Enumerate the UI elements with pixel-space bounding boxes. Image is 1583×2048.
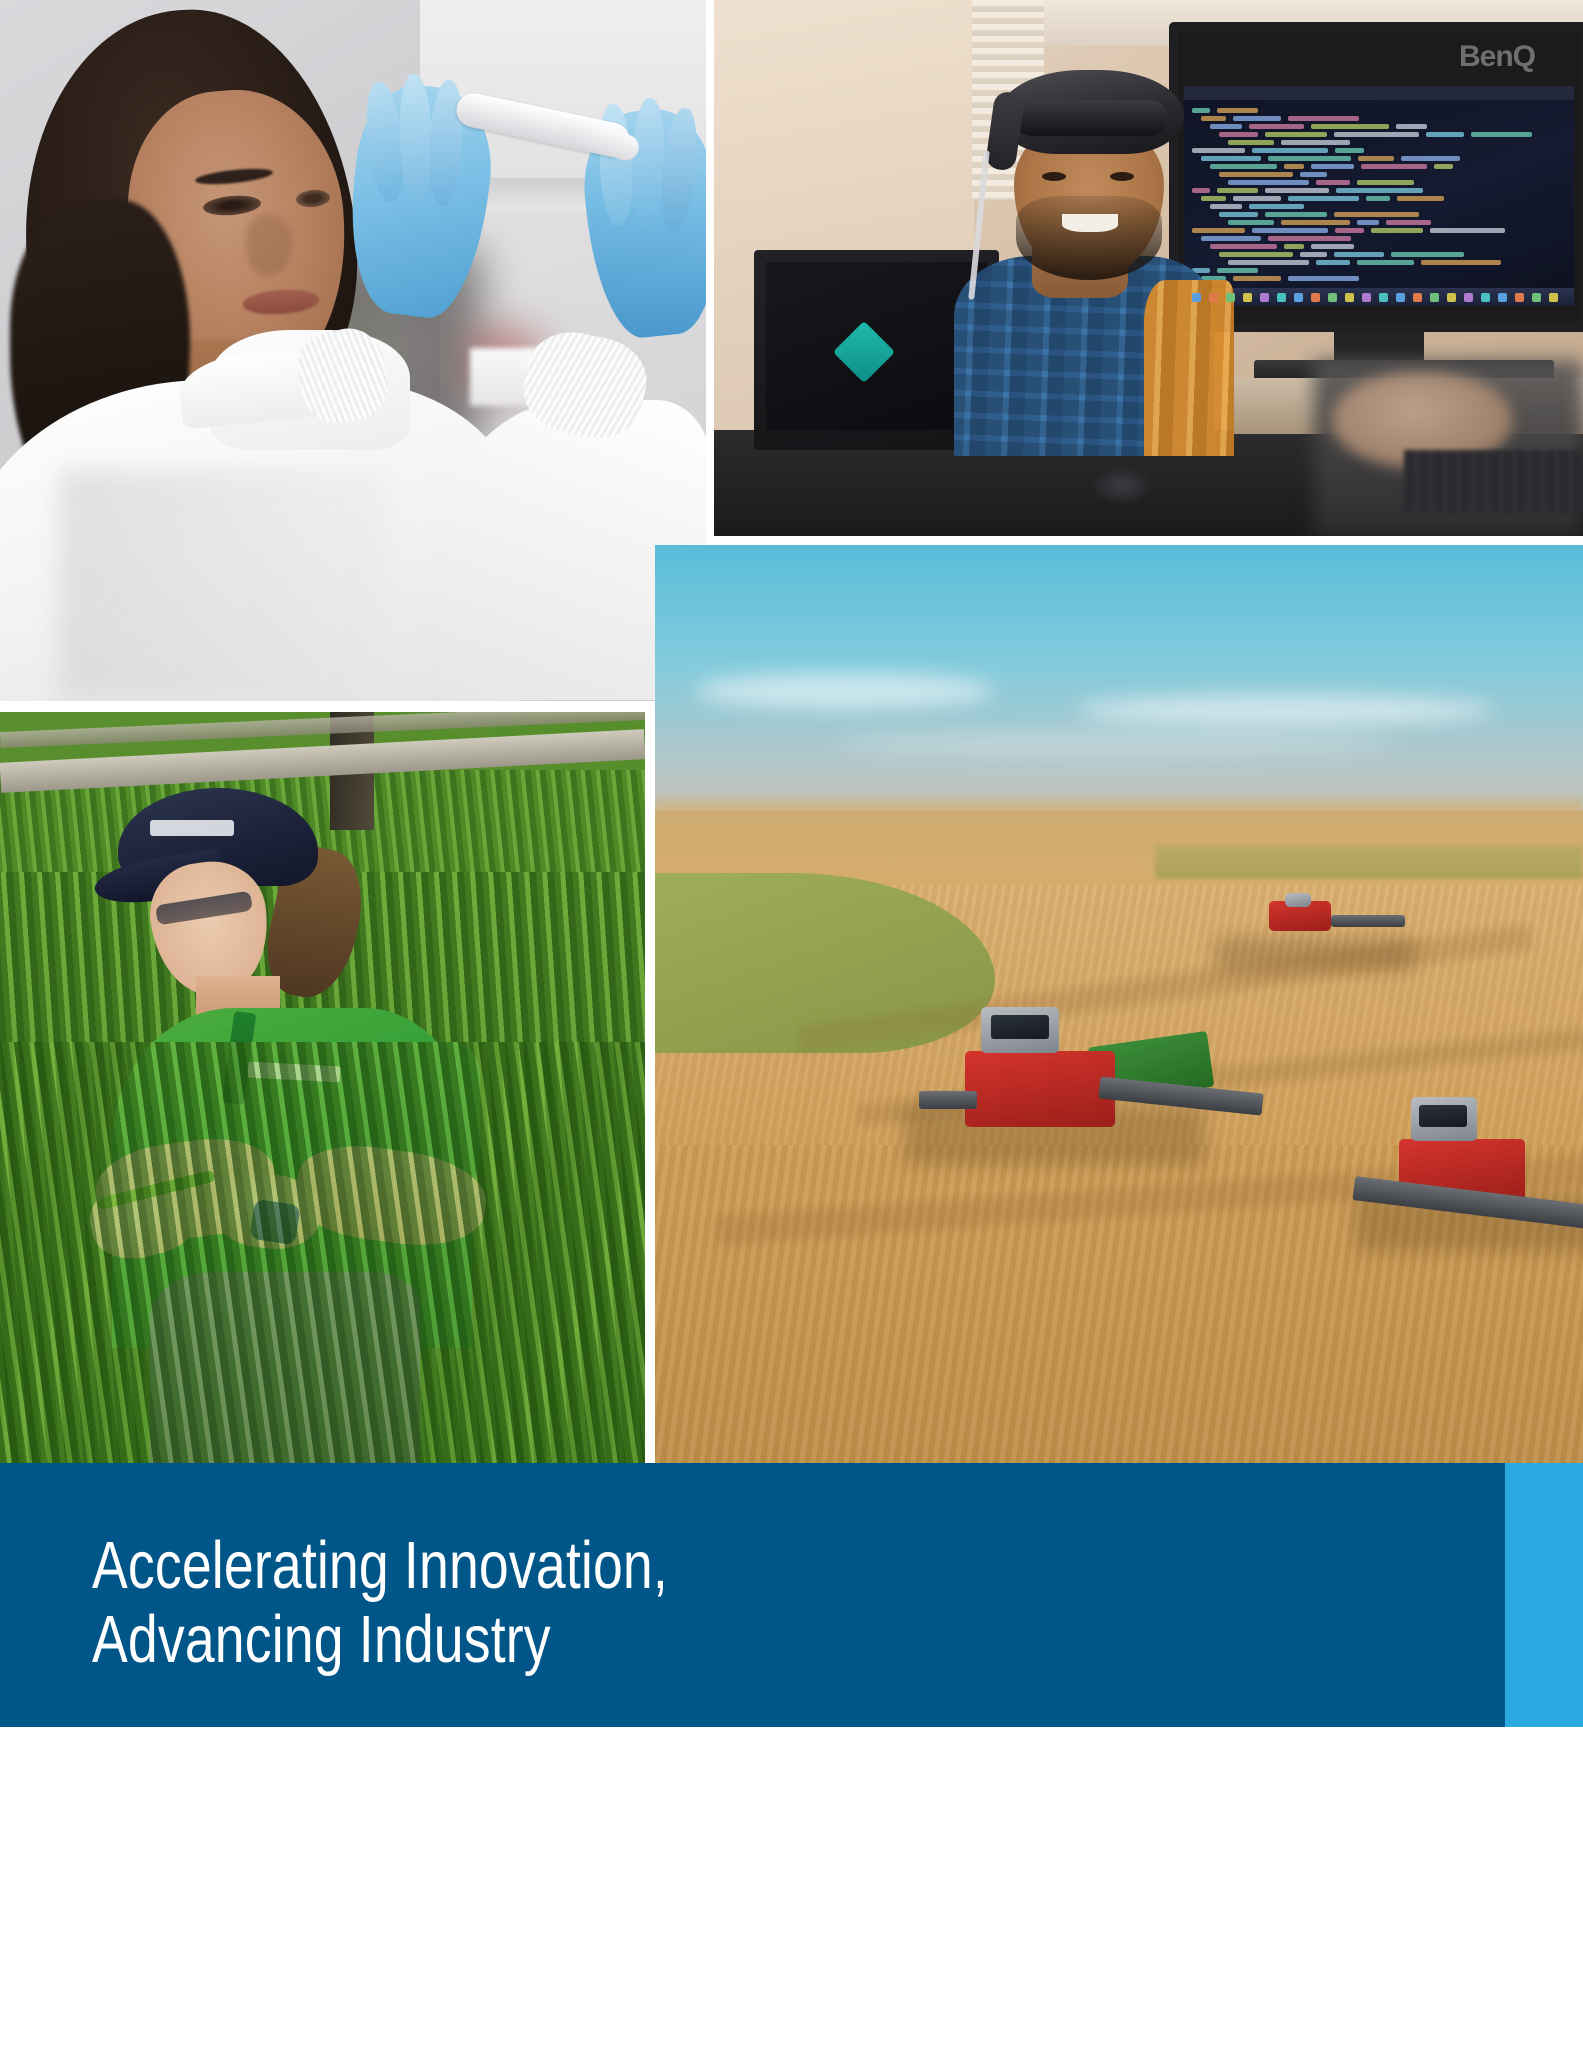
- code-line: [1334, 132, 1419, 137]
- code-line: [1265, 212, 1327, 217]
- combine-harvester-far: [1245, 893, 1405, 943]
- cloud-3: [835, 731, 1395, 757]
- combine-main-auger: [919, 1091, 977, 1109]
- photo-montage: BenQ: [0, 0, 1583, 1463]
- dock-icon: [1345, 293, 1354, 302]
- code-line: [1284, 164, 1304, 169]
- dock-icon: [1379, 293, 1388, 302]
- dock-icon: [1515, 293, 1524, 302]
- keyboard: [1404, 450, 1583, 514]
- grass-foreground: [0, 1042, 645, 1463]
- code-line: [1252, 228, 1328, 233]
- code-line: [1217, 268, 1258, 273]
- banner-accent-stripe: [1505, 1463, 1583, 1727]
- code-line: [1201, 236, 1261, 241]
- dock-icon: [1311, 293, 1320, 302]
- code-line: [1434, 164, 1453, 169]
- dock-icon: [1532, 293, 1541, 302]
- combine-main-body: [965, 1051, 1115, 1127]
- code-line: [1366, 196, 1390, 201]
- developer-shirt-sleeve: [1144, 280, 1234, 456]
- code-line: [1192, 188, 1210, 193]
- code-line: [1249, 124, 1304, 129]
- code-line: [1311, 164, 1354, 169]
- code-line: [1228, 140, 1274, 145]
- code-line: [1210, 124, 1242, 129]
- code-line: [1265, 188, 1329, 193]
- developer-eye-left: [1042, 172, 1066, 181]
- cover-footer: Saskatchewan's Research Strategy Researc…: [0, 1727, 1583, 2048]
- combine-harvester-main: [923, 995, 1263, 1165]
- developer-smile: [1062, 214, 1118, 232]
- code-line: [1210, 204, 1242, 209]
- code-line: [1281, 140, 1350, 145]
- code-line: [1210, 244, 1277, 249]
- dock-icon: [1362, 293, 1371, 302]
- agronomist-field-photo: [0, 712, 645, 1463]
- code-line: [1300, 252, 1327, 257]
- dock-icon: [1209, 293, 1218, 302]
- monitor-screen-code: [1184, 86, 1574, 306]
- cap-logo: [150, 820, 234, 836]
- code-line: [1386, 220, 1431, 225]
- code-line: [1358, 156, 1394, 161]
- dock-icon: [1396, 293, 1405, 302]
- code-line: [1268, 236, 1351, 241]
- dock-icon: [1413, 293, 1422, 302]
- cloud-1: [695, 673, 995, 709]
- combine-harvest-photo: [655, 545, 1583, 1463]
- code-line: [1228, 260, 1309, 265]
- computer-mouse: [1094, 468, 1150, 502]
- code-line: [1210, 164, 1277, 169]
- code-line: [1335, 228, 1364, 233]
- code-line: [1288, 196, 1359, 201]
- code-line: [1471, 132, 1532, 137]
- code-line: [1219, 172, 1293, 177]
- combine-far-header: [1331, 915, 1405, 927]
- lab-researcher-photo: [0, 0, 706, 701]
- cloud-2: [1075, 695, 1495, 725]
- code-line: [1288, 276, 1359, 281]
- cover-page: BenQ: [0, 0, 1583, 2048]
- code-line: [1357, 260, 1414, 265]
- dock-icon: [1464, 293, 1473, 302]
- code-line: [1281, 220, 1350, 225]
- code-line: [1397, 196, 1444, 201]
- code-line: [1391, 252, 1464, 257]
- combine-far-cab: [1285, 893, 1311, 907]
- page-title: Accelerating Innovation, Advancing Indus…: [92, 1529, 1116, 1678]
- benq-logo-text: BenQ: [1459, 40, 1579, 80]
- code-line: [1233, 276, 1281, 281]
- vr-headset-visor: [1014, 100, 1168, 136]
- code-line: [1192, 148, 1245, 153]
- dock-icon: [1481, 293, 1490, 302]
- dock-icon: [1192, 293, 1201, 302]
- code-line: [1268, 156, 1351, 161]
- code-line: [1228, 180, 1309, 185]
- code-line: [1265, 132, 1327, 137]
- code-line: [1249, 204, 1304, 209]
- code-line: [1217, 108, 1258, 113]
- code-line: [1335, 148, 1364, 153]
- distant-tree-line: [1155, 845, 1583, 879]
- code-line: [1192, 108, 1210, 113]
- lab-coat-shadow: [60, 470, 390, 700]
- code-line: [1357, 220, 1379, 225]
- developer-beard: [1016, 196, 1162, 280]
- code-line: [1357, 180, 1414, 185]
- code-line: [1288, 116, 1359, 121]
- dock-icon: [1328, 293, 1337, 302]
- code-line: [1401, 156, 1460, 161]
- code-line: [1316, 180, 1350, 185]
- dock-icon: [1226, 293, 1235, 302]
- code-line: [1233, 116, 1281, 121]
- dock-icon: [1294, 293, 1303, 302]
- code-line: [1430, 228, 1505, 233]
- code-line: [1421, 260, 1501, 265]
- code-line: [1284, 244, 1304, 249]
- code-line: [1396, 124, 1427, 129]
- developer-eye-right: [1110, 172, 1134, 181]
- code-line: [1371, 228, 1423, 233]
- combine-main-cab-glass: [991, 1015, 1049, 1039]
- code-line: [1336, 188, 1423, 193]
- code-line: [1201, 116, 1226, 121]
- code-line: [1334, 252, 1384, 257]
- code-line: [1201, 156, 1261, 161]
- code-line: [1334, 212, 1419, 217]
- code-line: [1219, 252, 1293, 257]
- dock-icon: [1277, 293, 1286, 302]
- dock-icon: [1260, 293, 1269, 302]
- dock-icon: [1498, 293, 1507, 302]
- code-line: [1311, 124, 1389, 129]
- code-line: [1192, 228, 1245, 233]
- dock-icon: [1243, 293, 1252, 302]
- code-line: [1316, 260, 1350, 265]
- dock-icon: [1430, 293, 1439, 302]
- combine-harvester-right: [1345, 1073, 1583, 1253]
- code-line: [1426, 132, 1464, 137]
- dock-icon: [1447, 293, 1456, 302]
- code-line: [1217, 188, 1258, 193]
- dock-icon: [1549, 293, 1558, 302]
- vr-developer-photo: BenQ: [714, 0, 1583, 536]
- code-line: [1300, 172, 1327, 177]
- code-line: [1311, 244, 1354, 249]
- code-line: [1219, 132, 1258, 137]
- code-line: [1252, 148, 1328, 153]
- code-line: [1201, 196, 1226, 201]
- combine-right-cab-glass: [1419, 1105, 1467, 1127]
- code-line: [1233, 196, 1281, 201]
- code-line: [1361, 164, 1427, 169]
- code-line: [1228, 220, 1274, 225]
- code-line: [1219, 212, 1258, 217]
- editor-tab-bar: [1184, 86, 1574, 100]
